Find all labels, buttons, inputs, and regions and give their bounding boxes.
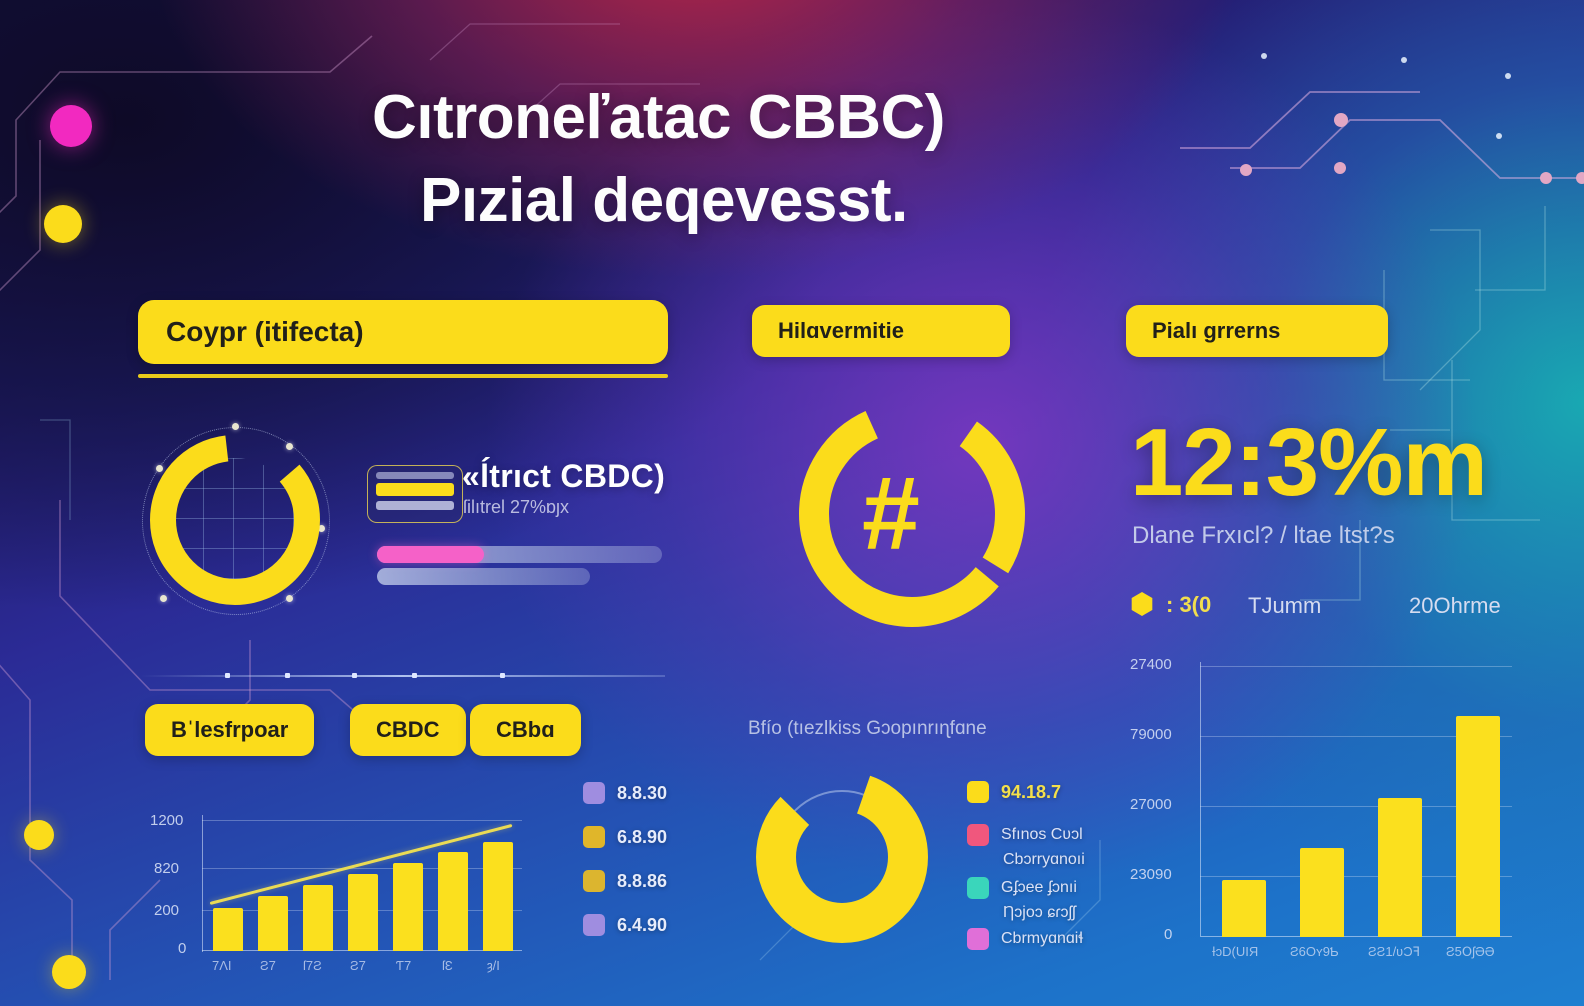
left-mini-card — [367, 465, 463, 523]
right-chart-bar — [1456, 716, 1500, 937]
mini-card-yellow-bar — [376, 483, 454, 496]
legend-swatch-icon — [967, 781, 989, 803]
legend-label: Cbrmyɑnɑiɬ — [1001, 930, 1083, 948]
right-chart-bar — [1300, 848, 1344, 937]
right-chart-gridline — [1200, 666, 1512, 667]
right-chart-xtick: ƗɔD(UIЯ — [1212, 944, 1258, 959]
right-chart-ytick-4: 27400 — [1130, 656, 1172, 673]
decoration-dot-yellow-bottom — [52, 955, 86, 989]
page-title: Cıtroneľatac CBBC) Pızial deqevesst. — [372, 76, 1322, 242]
left-ring-chart — [140, 425, 330, 615]
hash-icon: # — [862, 462, 920, 566]
left-chart-ytick-1: 200 — [154, 902, 179, 919]
right-stat-end: 20Ohrme — [1409, 593, 1501, 619]
left-kpi-subtext: ſilıtrel 27%ɒȷx — [463, 497, 569, 518]
left-chart-bar — [393, 863, 423, 951]
hexagon-icon — [1130, 592, 1154, 616]
left-bar-chart: 1200 820 200 0 7ɅI Ƨ7 ſ7Ƨ Ƨ7 Ƭ7 ſƐ ȝ/I — [150, 780, 570, 960]
panel-left: Coypr (itifecta) — [138, 300, 668, 378]
panel-left-header-pill[interactable]: Coypr (itifecta) — [138, 300, 668, 364]
legend-swatch-icon — [583, 870, 605, 892]
legend-swatch-icon — [583, 914, 605, 936]
legend-swatch-icon — [967, 824, 989, 846]
right-stat-badge: : 3(0 — [1166, 592, 1211, 618]
left-kpi-heading: «ĺtrıct CBDC) — [462, 458, 665, 495]
left-chart-bar — [303, 885, 333, 951]
left-chart-gridline — [202, 820, 522, 821]
right-big-value: 12:3%m — [1130, 408, 1487, 518]
legend-label: Sfınos Cʋɔl — [1001, 826, 1083, 844]
decoration-dot-yellow-left — [24, 820, 54, 850]
divider-node — [285, 673, 290, 678]
chip-1[interactable]: CBDC — [350, 704, 466, 756]
left-chart-ytick-3: 1200 — [150, 812, 183, 829]
divider-node — [352, 673, 357, 678]
left-chart-bar — [438, 852, 468, 951]
legend-label: Gʄɔee ʄɔnıi — [1001, 879, 1077, 897]
title-line-1: Cıtroneľatac CBBC) — [372, 83, 945, 152]
left-panel-divider — [140, 675, 665, 677]
middle-legend-item-0: 94.18.7 — [967, 781, 1061, 803]
right-big-subtext: Dlane Frxıcl? / ltae ltst?s — [1132, 522, 1395, 550]
left-chart-xtick: ſ7Ƨ — [303, 958, 322, 973]
mini-card-top-line — [376, 472, 454, 479]
left-chart-bar — [258, 896, 288, 951]
divider-node — [412, 673, 417, 678]
left-progress-track-2 — [377, 568, 590, 585]
left-chart-bar — [483, 842, 513, 951]
left-chart-gridline — [202, 868, 522, 869]
mini-card-bottom-line — [376, 501, 454, 510]
right-chart-ytick-3: 79000 — [1130, 726, 1172, 743]
left-chart-xtick: ȝ/I — [487, 958, 500, 973]
chip-2-label: CBbɑ — [496, 717, 555, 743]
divider-node — [225, 673, 230, 678]
panel-left-header-label: Coypr (itifecta) — [166, 316, 364, 348]
legend-label: Cbɔrryɑnoıi — [1003, 851, 1085, 869]
decoration-dot-magenta — [50, 105, 92, 147]
legend-label: Ƞɔjoɔ ɕɾɔʃʃ — [1003, 904, 1076, 922]
legend-label: 6.4.90 — [617, 915, 667, 936]
right-chart-bar — [1378, 798, 1422, 937]
left-chart-xtick: 7ɅI — [212, 958, 232, 973]
decoration-dot-yellow-top — [44, 205, 82, 243]
right-stat-mid: TJumm — [1248, 593, 1321, 619]
left-chart-xtick: ſƐ — [442, 958, 453, 973]
legend-swatch-icon — [967, 928, 989, 950]
right-chart-ytick-0: 0 — [1164, 926, 1172, 943]
chip-2[interactable]: CBbɑ — [470, 704, 581, 756]
left-legend-item-3: 6.4.90 — [583, 914, 667, 936]
left-chart-ytick-0: 0 — [178, 940, 186, 957]
legend-label: 6.8.90 — [617, 827, 667, 848]
middle-hash-ring: # — [790, 392, 1034, 636]
left-chart-xtick: Ƨ7 — [260, 958, 276, 973]
left-chart-ytick-2: 820 — [154, 860, 179, 877]
right-bar-chart: 27400 79000 27000 23090 0 ƗɔD(UIЯ Ƨ6Oʏ9Ƅ… — [1122, 648, 1542, 948]
right-chart-ytick-2: 27000 — [1130, 796, 1172, 813]
legend-swatch-icon — [967, 877, 989, 899]
left-chart-xtick: Ƨ7 — [350, 958, 366, 973]
infographic-canvas: Cıtroneľatac CBBC) Pızial deqevesst. Coy… — [0, 0, 1584, 1006]
right-chart-xtick: Ƨ6Oʏ9Ƅ — [1290, 944, 1339, 959]
chip-0[interactable]: Bˈlesfrpoar — [145, 704, 314, 756]
panel-middle-header-label: Hilɑvermitie — [778, 318, 904, 344]
right-chart-y-axis — [1200, 662, 1201, 936]
left-legend-item-2: 8.8.86 — [583, 870, 667, 892]
legend-label: 94.18.7 — [1001, 782, 1061, 803]
panel-right-header-label: Pialı grrerns — [1152, 318, 1280, 344]
panel-middle-header-pill[interactable]: Hilɑvermitie — [752, 305, 1010, 357]
middle-legend-item-4: Ƞɔjoɔ ɕɾɔʃʃ — [1003, 904, 1076, 922]
title-line-2: Pızial deqevesst. — [420, 159, 1322, 242]
middle-legend-item-1: Sfınos Cʋɔl — [967, 824, 1083, 846]
legend-swatch-icon — [583, 826, 605, 848]
left-chart-bar — [213, 908, 243, 951]
legend-swatch-icon — [583, 782, 605, 804]
left-chart-bar — [348, 874, 378, 951]
left-chart-xtick: Ƭ7 — [396, 958, 411, 973]
middle-legend-item-3: Gʄɔee ʄɔnıi — [967, 877, 1077, 899]
pie-donut-arc — [750, 765, 935, 950]
legend-label: 8.8.30 — [617, 783, 667, 804]
right-chart-ytick-1: 23090 — [1130, 866, 1172, 883]
right-chart-xtick: Ƨ5ՕʃƏƏ — [1446, 944, 1495, 960]
panel-left-header-underline — [138, 374, 668, 378]
legend-label: 8.8.86 — [617, 871, 667, 892]
middle-legend-item-2: Cbɔrryɑnoıi — [1003, 851, 1085, 869]
right-chart-bar — [1222, 880, 1266, 937]
middle-pie-chart — [750, 765, 935, 950]
chip-1-label: CBDC — [376, 717, 440, 743]
left-progress-fill-1 — [377, 546, 484, 563]
right-chart-xtick: ƧƧ1/ʋƆꟻ — [1368, 944, 1420, 960]
middle-legend-item-5: Cbrmyɑnɑiɬ — [967, 928, 1083, 950]
chip-0-label: Bˈlesfrpoar — [171, 717, 288, 743]
divider-node — [500, 673, 505, 678]
left-legend-item-0: 8.8.30 — [583, 782, 667, 804]
left-legend-item-1: 6.8.90 — [583, 826, 667, 848]
middle-section-caption: Bfío (tıezlkiss Gɔopınrıɳfɑne — [748, 718, 987, 740]
ring-donut-arc — [140, 425, 330, 615]
left-chart-y-axis — [202, 815, 203, 952]
panel-right-header-pill[interactable]: Pialı grrerns — [1126, 305, 1388, 357]
